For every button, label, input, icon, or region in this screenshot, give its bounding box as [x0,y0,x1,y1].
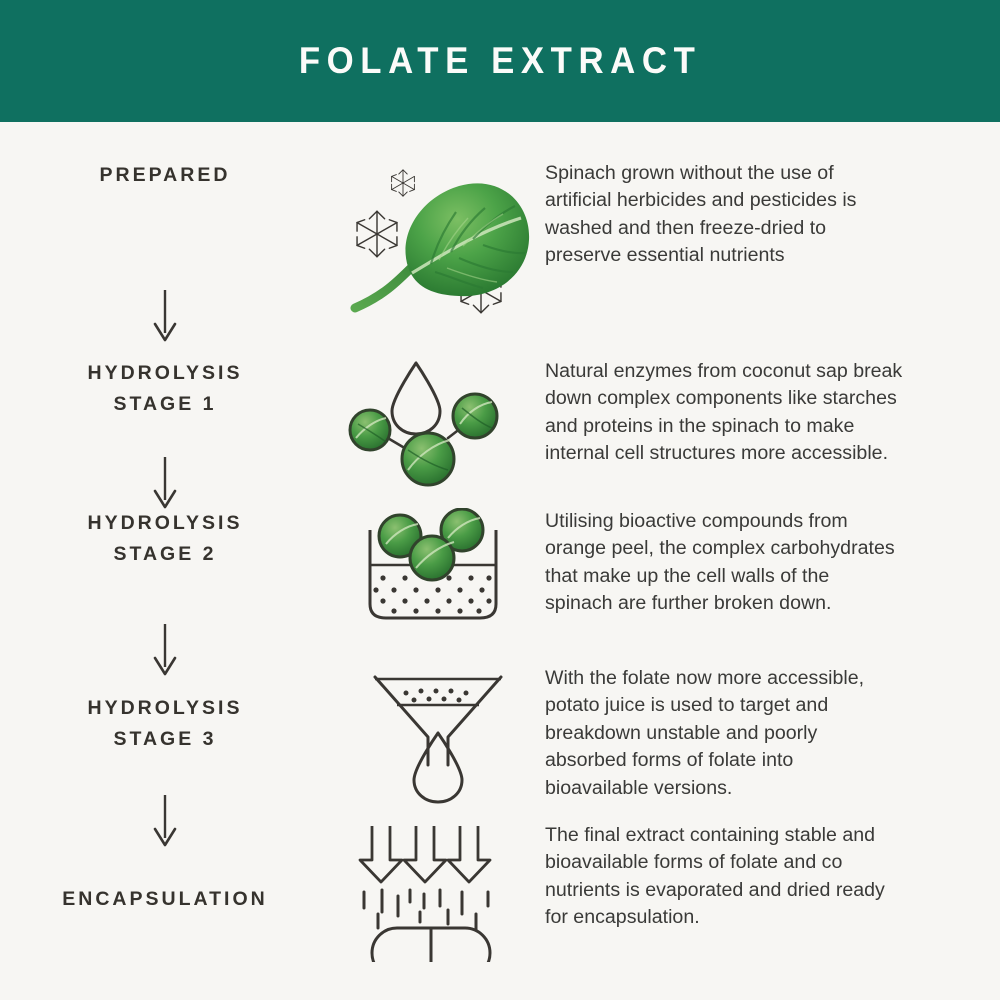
arrow-down-1 [0,288,330,344]
droplet-shape [414,733,462,802]
step-text-hydrolysis-2: Utilising bioactive compounds from orang… [545,508,1000,618]
step-text-hydrolysis-3: With the folate now more accessible, pot… [545,665,1000,802]
header-banner: FOLATE EXTRACT [0,0,1000,122]
molecule-circle [350,410,390,450]
step-label-prepared: PREPARED [0,160,330,191]
capsule-arrows-icon [348,822,528,962]
step-row-encapsulation: ENCAPSULATION [0,822,1000,962]
step-row-hydrolysis-2: HYDROLYSIS STAGE 2 [0,508,1000,633]
molecule-circle [410,536,454,580]
page-title: FOLATE EXTRACT [299,40,702,82]
step-text-prepared: Spinach grown without the use of artific… [545,160,1000,270]
molecule-circle [453,394,497,438]
step-label-encapsulation: ENCAPSULATION [0,822,330,915]
droplet-molecules-icon [348,358,528,488]
infographic-page: FOLATE EXTRACT PREPARED [0,0,1000,1000]
droplet-shape [392,363,440,434]
step-icon-encapsulation [330,822,545,962]
step-text-hydrolysis-1: Natural enzymes from coconut sap break d… [545,358,1000,468]
spinach-leaf-snowflakes-icon [335,160,540,330]
step-label-hydrolysis-3: HYDROLYSIS STAGE 3 [0,665,330,755]
step-text-encapsulation: The final extract containing stable and … [545,822,1000,932]
step-label-hydrolysis-2: HYDROLYSIS STAGE 2 [0,508,330,570]
arrow-down-outline [360,826,490,882]
funnel-dots [403,689,468,703]
beaker-molecules-icon [348,508,528,633]
step-icon-hydrolysis-3 [330,665,545,805]
step-label-hydrolysis-1: HYDROLYSIS STAGE 1 [0,358,330,420]
funnel-droplet-icon [353,665,523,805]
evaporation-ticks [364,890,488,930]
step-icon-hydrolysis-1 [330,358,545,488]
step-icon-hydrolysis-2 [330,508,545,633]
step-row-hydrolysis-3: HYDROLYSIS STAGE 3 With the folate now m… [0,665,1000,805]
step-icon-prepared [330,160,545,330]
capsule-shape [372,928,490,962]
arrow-down-2 [0,455,330,511]
